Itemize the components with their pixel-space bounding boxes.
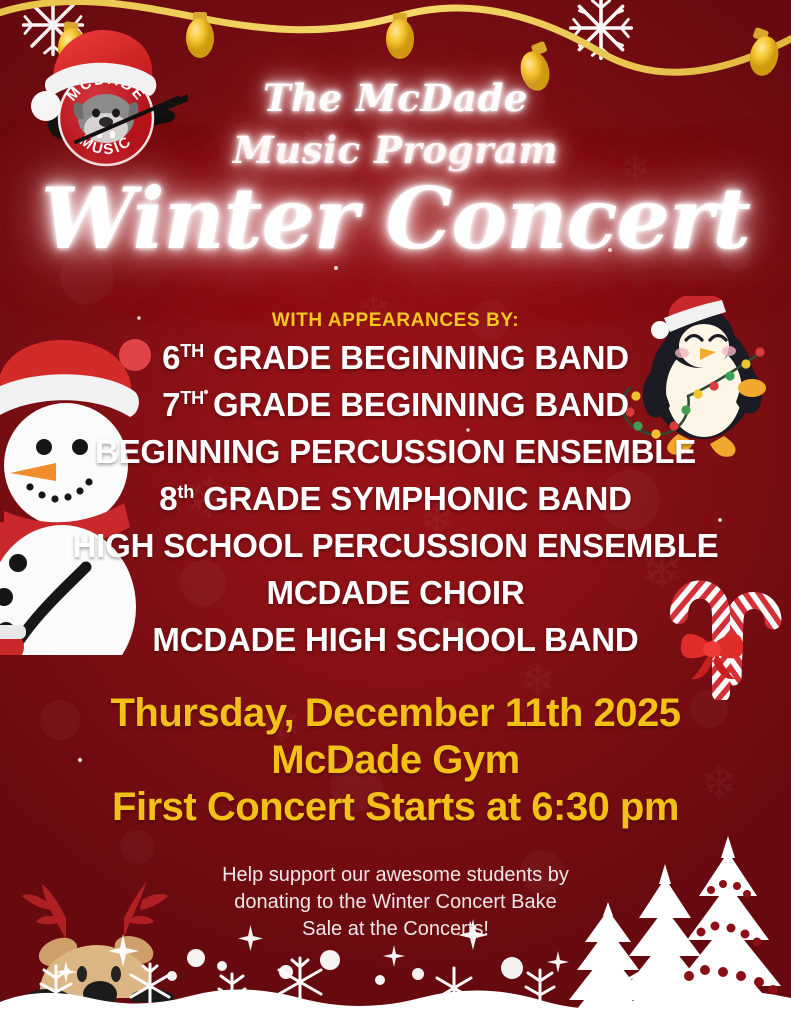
ensemble-grade-suffix: TH bbox=[180, 388, 204, 408]
ensemble-item: BEGINNING PERCUSSION ENSEMBLE bbox=[0, 428, 791, 475]
ensemble-item: MCDADE HIGH SCHOOL BAND bbox=[0, 616, 791, 663]
event-venue: McDade Gym bbox=[0, 737, 791, 784]
event-date: Thursday, December 11th 2025 bbox=[0, 690, 791, 737]
page-title: Winter Concert bbox=[0, 176, 791, 262]
snow-drift bbox=[0, 914, 791, 1024]
winter-concert-poster: ❄ ❄ ❄ ❄ ❄ ❄ ❄ ❄ ❄ ❄ bbox=[0, 0, 791, 1024]
ensemble-name: GRADE BEGINNING BAND bbox=[204, 386, 629, 423]
ensemble-item: 7TH GRADE BEGINNING BAND bbox=[0, 381, 791, 428]
ensemble-grade-number: 8 bbox=[159, 480, 177, 517]
header-line-1: The McDade bbox=[0, 76, 791, 120]
ensemble-name: GRADE SYMPHONIC BAND bbox=[194, 480, 632, 517]
ensemble-item: 6TH GRADE BEGINNING BAND bbox=[0, 334, 791, 381]
ensemble-grade-suffix: th bbox=[177, 482, 194, 502]
ensemble-item: 8th GRADE SYMPHONIC BAND bbox=[0, 475, 791, 522]
ensemble-name: BEGINNING PERCUSSION ENSEMBLE bbox=[95, 433, 696, 470]
ensemble-grade-suffix: TH bbox=[180, 341, 204, 361]
ensemble-name: HIGH SCHOOL PERCUSSION ENSEMBLE bbox=[73, 527, 719, 564]
ensemble-item: HIGH SCHOOL PERCUSSION ENSEMBLE bbox=[0, 522, 791, 569]
ensemble-name: MCDADE HIGH SCHOOL BAND bbox=[152, 621, 638, 658]
ensemble-name: GRADE BEGINNING BAND bbox=[204, 339, 629, 376]
header-line-2: Music Program bbox=[0, 128, 791, 172]
appearances-label: WITH APPEARANCES BY: bbox=[0, 310, 791, 332]
ensemble-list: 6TH GRADE BEGINNING BAND7TH GRADE BEGINN… bbox=[0, 334, 791, 663]
ensemble-grade-number: 6 bbox=[162, 339, 180, 376]
light-bulb bbox=[746, 27, 782, 79]
ensemble-name: MCDADE CHOIR bbox=[267, 574, 525, 611]
event-details: Thursday, December 11th 2025 McDade Gym … bbox=[0, 690, 791, 831]
ensemble-grade-number: 7 bbox=[162, 386, 180, 423]
ensemble-item: MCDADE CHOIR bbox=[0, 569, 791, 616]
